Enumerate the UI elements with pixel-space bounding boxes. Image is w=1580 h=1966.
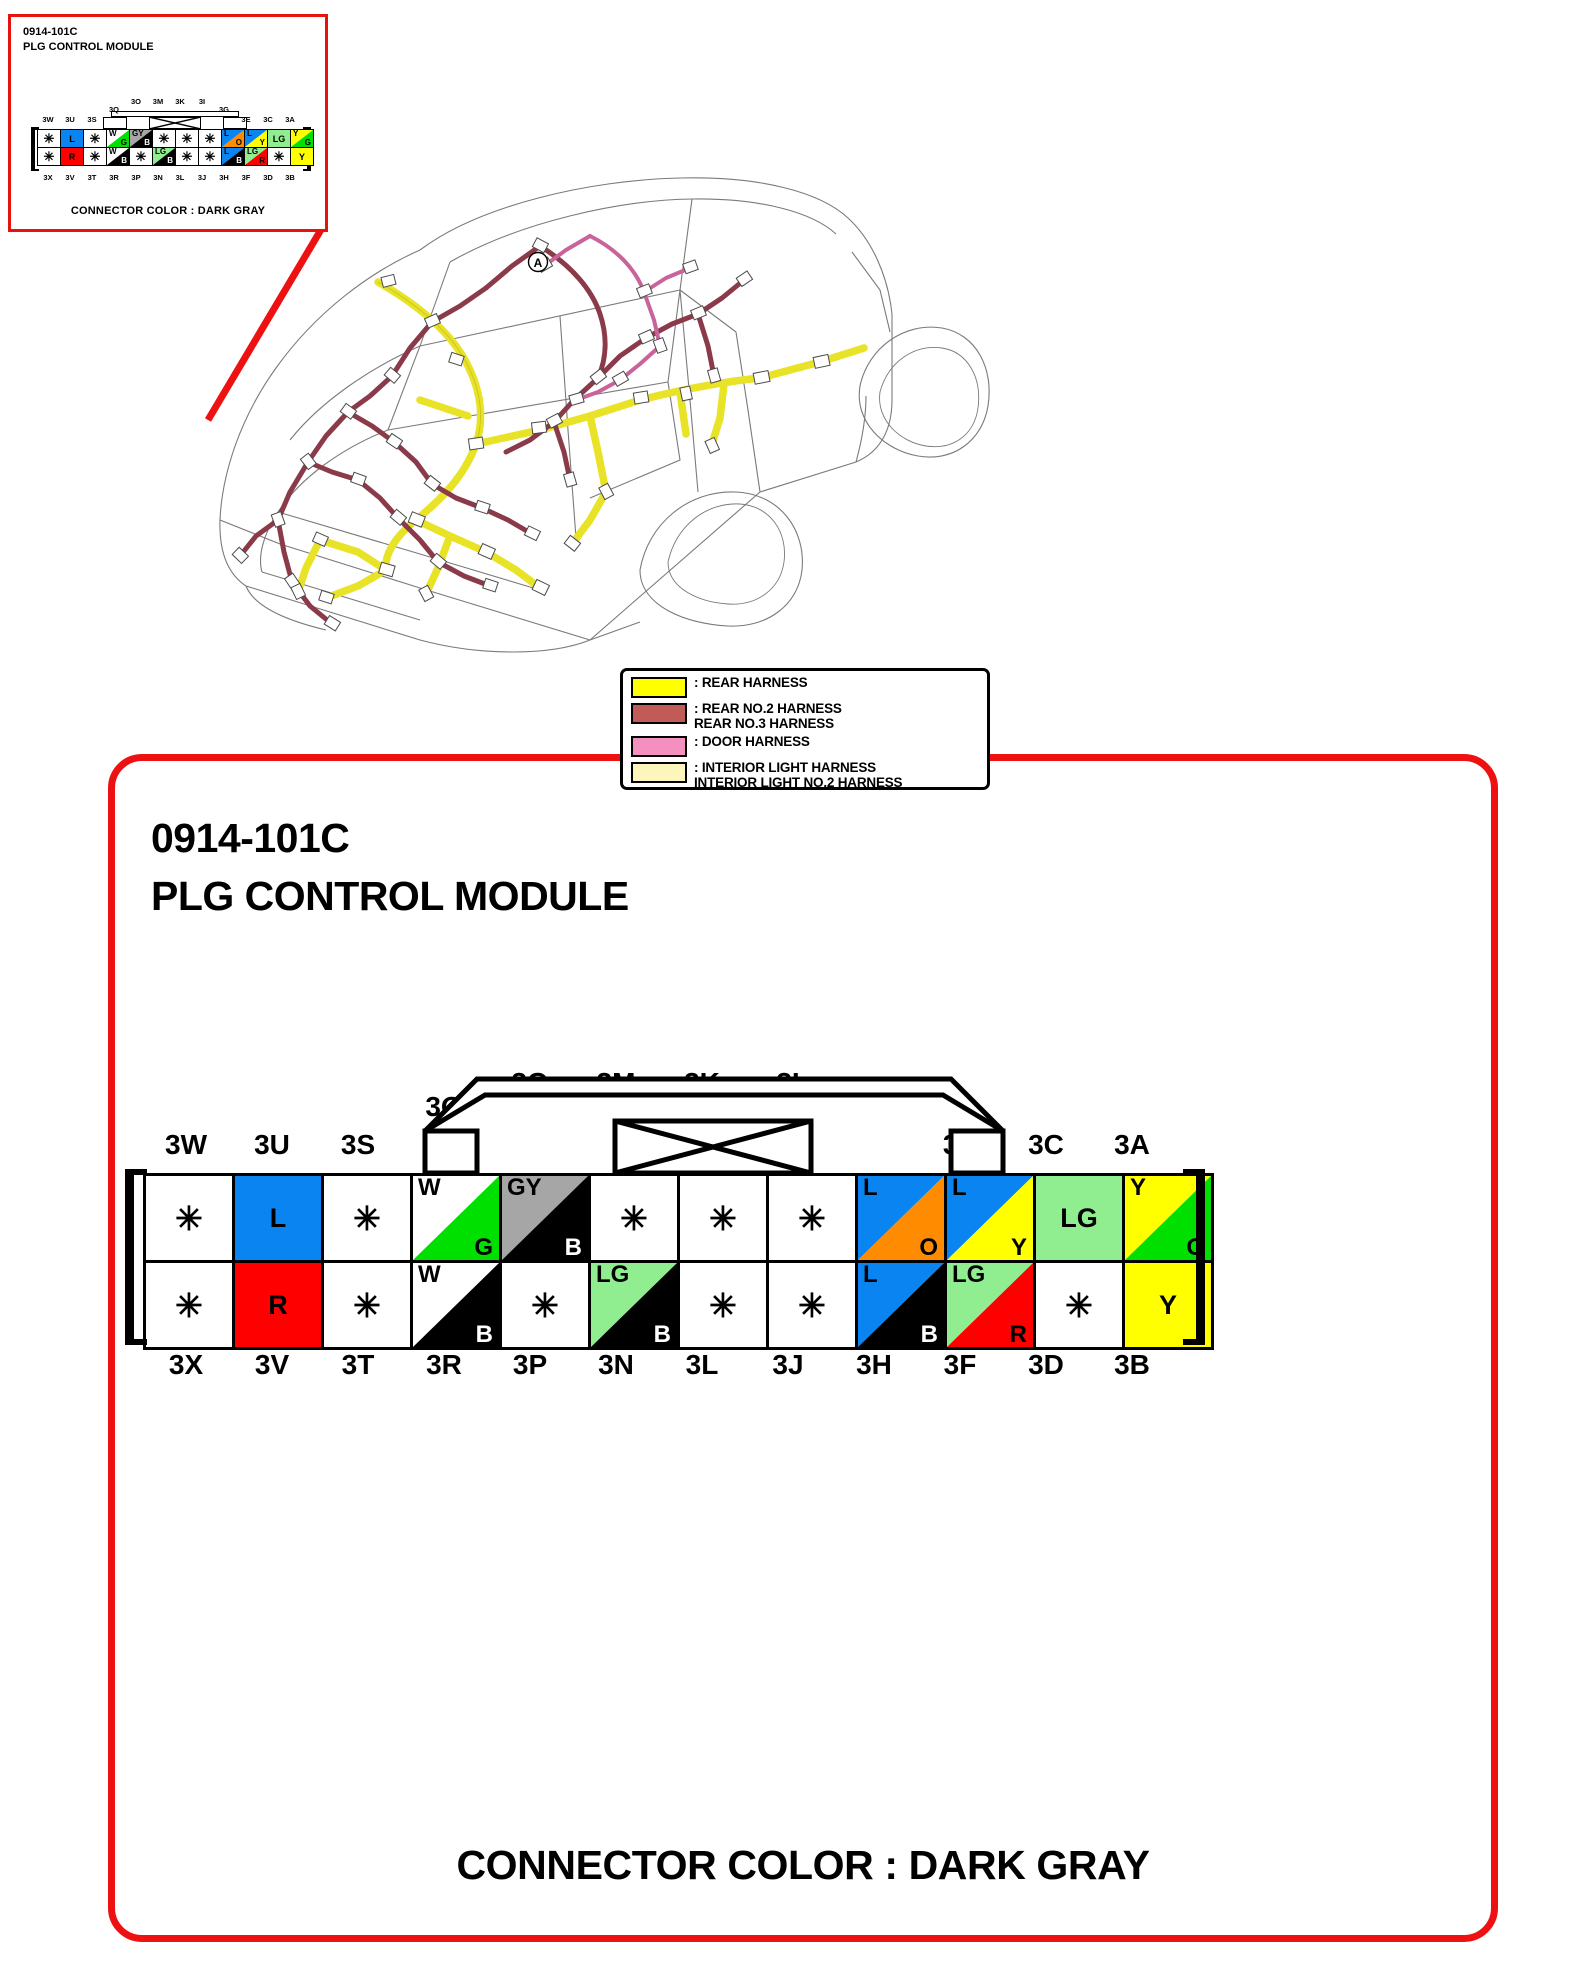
pin-wire-a-3E: L: [247, 130, 252, 138]
panel-code: 0914-101C: [151, 815, 349, 862]
inset-pin-grid: ✳L✳WGGYB✳✳✳LOLYLGYG ✳R✳WB✳LGB✳✳LBLGR✳Y: [37, 129, 314, 166]
pin-label-3J: 3J: [745, 1349, 831, 1381]
pin-label-3D: 3D: [1003, 1349, 1089, 1381]
pin-wire-a-3F: LG: [247, 148, 258, 156]
legend-swatch-door-harness: [631, 736, 687, 757]
pin-cell-3V[interactable]: R: [61, 148, 84, 166]
pin-cell-3Q[interactable]: WG: [107, 130, 130, 148]
pin-wire-color-3U: L: [235, 1176, 321, 1260]
pin-empty-mark-icon: ✳: [199, 148, 221, 165]
pin-cell-3W[interactable]: ✳: [145, 1175, 234, 1262]
pin-cell-3I[interactable]: ✳: [199, 130, 222, 148]
pin-cell-3M[interactable]: ✳: [153, 130, 176, 148]
pin-wire-color-3V: R: [61, 148, 83, 165]
inset-connector-diagram: ✳L✳WGGYB✳✳✳LOLYLGYG ✳R✳WB✳LGB✳✳LBLGR✳Y 3…: [25, 95, 317, 195]
inset-pin-label-3Q: 3Q: [103, 105, 125, 114]
inset-pin-label-3D: 3D: [257, 173, 279, 182]
pin-cell-3X[interactable]: ✳: [145, 1262, 234, 1349]
pin-wire-b-3N: B: [167, 157, 173, 165]
pin-cell-3L[interactable]: ✳: [176, 148, 199, 166]
pin-wire-color-3C: LG: [1036, 1176, 1122, 1260]
pin-cell-3S[interactable]: ✳: [323, 1175, 412, 1262]
pin-split-3Q: WG: [107, 130, 129, 147]
pin-empty-mark-icon: ✳: [324, 1263, 410, 1347]
pin-cell-3D[interactable]: ✳: [1035, 1262, 1124, 1349]
pin-cell-3E[interactable]: LY: [946, 1175, 1035, 1262]
pin-wire-a-3N: LG: [596, 1263, 629, 1287]
pin-cell-3W[interactable]: ✳: [38, 130, 61, 148]
pin-wire-b-3N: B: [654, 1323, 671, 1347]
callout-inset-box: 0914-101CPLG CONTROL MODULE ✳L✳WGGYB✳✳✳L…: [8, 14, 328, 232]
inset-pin-label-3M: 3M: [147, 97, 169, 106]
pin-split-3F: LGR: [947, 1263, 1033, 1347]
pin-wire-a-3F: LG: [952, 1263, 985, 1287]
pin-wire-a-3N: LG: [155, 148, 166, 156]
pin-empty-mark-icon: ✳: [84, 148, 106, 165]
pin-cell-3F[interactable]: LGR: [245, 148, 268, 166]
pin-label-3P: 3P: [487, 1349, 573, 1381]
inset-pin-label-3O: 3O: [125, 97, 147, 106]
inset-pin-label-3X: 3X: [37, 173, 59, 182]
pin-cell-3I[interactable]: ✳: [768, 1175, 857, 1262]
pin-split-3A: YG: [291, 130, 313, 147]
pin-empty-mark-icon: ✳: [153, 130, 175, 147]
pin-wire-a-3G: L: [224, 130, 229, 138]
pin-cell-3R[interactable]: WB: [412, 1262, 501, 1349]
pin-cell-3L[interactable]: ✳: [679, 1262, 768, 1349]
pin-wire-a-3A: Y: [293, 130, 298, 138]
pin-wire-b-3R: B: [476, 1323, 493, 1347]
pin-cell-3R[interactable]: WB: [107, 148, 130, 166]
pin-wire-a-3H: L: [224, 148, 229, 156]
pin-split-3E: LY: [245, 130, 267, 147]
pin-cell-3C[interactable]: LG: [1035, 1175, 1124, 1262]
pin-split-3R: WB: [413, 1263, 499, 1347]
pin-split-3G: LO: [858, 1176, 944, 1260]
pin-empty-mark-icon: ✳: [769, 1263, 855, 1347]
harness-legend: : REAR HARNESS: REAR NO.2 HARNESS REAR N…: [620, 668, 990, 790]
pin-cell-3T[interactable]: ✳: [84, 148, 107, 166]
pin-wire-color-3V: R: [235, 1263, 321, 1347]
inset-pin-label-3I: 3I: [191, 97, 213, 106]
panel-connector-color: CONNECTOR COLOR : DARK GRAY: [115, 1842, 1491, 1889]
pin-wire-b-3E: Y: [260, 139, 265, 147]
pin-cell-3O[interactable]: GYB: [130, 130, 153, 148]
inset-pin-label-3S: 3S: [81, 115, 103, 124]
pin-cell-3J[interactable]: ✳: [768, 1262, 857, 1349]
legend-label-rear-harness: : REAR HARNESS: [694, 676, 807, 691]
inset-pin-label-3F: 3F: [235, 173, 257, 182]
pin-cell-3S[interactable]: ✳: [84, 130, 107, 148]
pin-wire-color-3B: Y: [291, 148, 313, 165]
pin-cell-3V[interactable]: R: [234, 1262, 323, 1349]
legend-item-rear-no2-no3-harness: : REAR NO.2 HARNESS REAR NO.3 HARNESS: [623, 702, 987, 731]
inset-pin-label-3B: 3B: [279, 173, 301, 182]
pin-cell-3N[interactable]: LGB: [153, 148, 176, 166]
legend-swatch-rear-harness: [631, 677, 687, 698]
connector-rail-left: [125, 1169, 134, 1345]
svg-text:A: A: [534, 256, 543, 270]
pin-empty-mark-icon: ✳: [268, 148, 290, 165]
pin-label-3N: 3N: [573, 1349, 659, 1381]
inset-pin-label-3V: 3V: [59, 173, 81, 182]
inset-pin-label-3P: 3P: [125, 173, 147, 182]
inset-pin-label-3N: 3N: [147, 173, 169, 182]
pin-split-3H: LB: [222, 148, 244, 165]
rail-right-bot-tab: [1183, 1339, 1205, 1345]
pin-split-3N: LGB: [591, 1263, 677, 1347]
inset-pin-label-3W: 3W: [37, 115, 59, 124]
pin-wire-b-3G: O: [919, 1236, 938, 1260]
callout-marker-a: A: [529, 253, 548, 272]
pin-empty-mark-icon: ✳: [502, 1263, 588, 1347]
pin-wire-a-3O: GY: [132, 130, 144, 138]
pin-split-3R: WB: [107, 148, 129, 165]
legend-item-interior-light-harness: : INTERIOR LIGHT HARNESS INTERIOR LIGHT …: [623, 761, 987, 790]
pin-label-3F: 3F: [917, 1349, 1003, 1381]
pin-cell-3P[interactable]: ✳: [501, 1262, 590, 1349]
pin-cell-3X[interactable]: ✳: [38, 148, 61, 166]
pin-wire-b-3F: R: [259, 157, 265, 165]
pin-wire-b-3H: B: [236, 157, 242, 165]
pin-label-3L: 3L: [659, 1349, 745, 1381]
pin-wire-a-3A: Y: [1130, 1176, 1146, 1200]
pin-split-3G: LO: [222, 130, 244, 147]
inset-pin-label-3K: 3K: [169, 97, 191, 106]
pin-label-3X: 3X: [143, 1349, 229, 1381]
legend-label-interior-light-harness: : INTERIOR LIGHT HARNESS INTERIOR LIGHT …: [694, 761, 902, 790]
pin-cell-3M[interactable]: ✳: [590, 1175, 679, 1262]
pin-wire-b-3R: B: [121, 157, 127, 165]
pin-wire-a-3Q: W: [418, 1176, 441, 1200]
pin-wire-b-3O: B: [565, 1236, 582, 1260]
panel-title: PLG CONTROL MODULE: [151, 873, 629, 920]
pin-split-3E: LY: [947, 1176, 1033, 1260]
pin-wire-a-3E: L: [952, 1176, 967, 1200]
pin-cell-3H[interactable]: LB: [857, 1262, 946, 1349]
pin-empty-mark-icon: ✳: [146, 1176, 232, 1260]
pin-cell-3E[interactable]: LY: [245, 130, 268, 148]
pin-empty-mark-icon: ✳: [591, 1176, 677, 1260]
pin-cell-3Q[interactable]: WG: [412, 1175, 501, 1262]
pin-label-3B: 3B: [1089, 1349, 1175, 1381]
pin-cell-3B[interactable]: Y: [291, 148, 314, 166]
connector-rail-right: [1196, 1169, 1205, 1345]
pin-label-3T: 3T: [315, 1349, 401, 1381]
pin-wire-b-3H: B: [921, 1323, 938, 1347]
pin-wire-b-3E: Y: [1011, 1236, 1027, 1260]
legend-label-door-harness: : DOOR HARNESS: [694, 735, 810, 750]
pin-cell-3F[interactable]: LGR: [946, 1262, 1035, 1349]
pin-empty-mark-icon: ✳: [199, 130, 221, 147]
connector-pin-grid: ✳L✳WGGYB✳✳✳LOLYLGYG ✳R✳WB✳LGB✳✳LBLGR✳Y: [143, 1173, 1214, 1350]
pin-empty-mark-icon: ✳: [84, 130, 106, 147]
connector-shroud-outline: [125, 1043, 1225, 1173]
pin-wire-b-3A: G: [305, 139, 311, 147]
inset-pin-label-3L: 3L: [169, 173, 191, 182]
pin-wire-a-3Q: W: [109, 130, 117, 138]
inset-pin-label-3E: 3E: [235, 115, 257, 124]
pin-empty-mark-icon: ✳: [680, 1176, 766, 1260]
legend-item-door-harness: : DOOR HARNESS: [623, 735, 987, 757]
pin-wire-a-3G: L: [863, 1176, 878, 1200]
pin-empty-mark-icon: ✳: [38, 130, 60, 147]
pin-wire-a-3H: L: [863, 1263, 878, 1287]
inset-x-mark-icon: [149, 117, 201, 129]
rail-left-bot-tab: [125, 1339, 147, 1345]
pin-empty-mark-icon: ✳: [324, 1176, 410, 1260]
pin-label-3R: 3R: [401, 1349, 487, 1381]
pin-empty-mark-icon: ✳: [130, 148, 152, 165]
pin-split-3O: GYB: [130, 130, 152, 147]
pin-split-3N: LGB: [153, 148, 175, 165]
pin-cell-3T[interactable]: ✳: [323, 1262, 412, 1349]
inset-pin-label-3C: 3C: [257, 115, 279, 124]
pin-empty-mark-icon: ✳: [176, 148, 198, 165]
pin-split-3O: GYB: [502, 1176, 588, 1260]
pin-cell-3J[interactable]: ✳: [199, 148, 222, 166]
pin-empty-mark-icon: ✳: [1036, 1263, 1122, 1347]
pin-wire-a-3R: W: [418, 1263, 441, 1287]
inset-pin-label-3G: 3G: [213, 105, 235, 114]
pin-cell-3U[interactable]: L: [61, 130, 84, 148]
pin-wire-b-3G: O: [236, 139, 242, 147]
pin-empty-mark-icon: ✳: [38, 148, 60, 165]
pin-wire-color-3C: LG: [268, 130, 290, 147]
legend-item-rear-harness: : REAR HARNESS: [623, 676, 987, 698]
inset-pin-label-3H: 3H: [213, 173, 235, 182]
pin-wire-a-3R: W: [109, 148, 117, 156]
pin-wire-b-3F: R: [1010, 1323, 1027, 1347]
pin-wire-a-3O: GY: [507, 1176, 542, 1200]
pin-cell-3O[interactable]: GYB: [501, 1175, 590, 1262]
pin-row-bottom: ✳R✳WB✳LGB✳✳LBLGR✳Y: [145, 1262, 1213, 1349]
connector-pinout-diagram: ✳L✳WGGYB✳✳✳LOLYLGYG ✳R✳WB✳LGB✳✳LBLGR✳Y 3…: [125, 1043, 1225, 1363]
pin-row-top: ✳L✳WGGYB✳✳✳LOLYLGYG: [145, 1175, 1213, 1262]
connector-detail-panel: 0914-101C PLG CONTROL MODULE ✳L✳WGGYB✳✳✳…: [108, 754, 1498, 1942]
pin-cell-3C[interactable]: LG: [268, 130, 291, 148]
pin-cell-3D[interactable]: ✳: [268, 148, 291, 166]
inset-pin-label-3T: 3T: [81, 173, 103, 182]
pin-empty-mark-icon: ✳: [176, 130, 198, 147]
pin-split-3F: LGR: [245, 148, 267, 165]
rail-left-top-tab: [125, 1169, 147, 1175]
pin-wire-b-3Q: G: [121, 139, 127, 147]
pin-label-3V: 3V: [229, 1349, 315, 1381]
pin-wire-b-3Q: G: [474, 1236, 493, 1260]
inset-connector-color: CONNECTOR COLOR : DARK GRAY: [11, 205, 325, 217]
inset-code: 0914-101C: [23, 26, 77, 38]
legend-label-rear-no2-no3-harness: : REAR NO.2 HARNESS REAR NO.3 HARNESS: [694, 702, 842, 731]
legend-swatch-rear-no2-no3-harness: [631, 703, 687, 724]
pin-cell-3A[interactable]: YG: [291, 130, 314, 148]
pin-split-3H: LB: [858, 1263, 944, 1347]
inset-name: PLG CONTROL MODULE: [23, 41, 154, 53]
pin-empty-mark-icon: ✳: [680, 1263, 766, 1347]
pin-cell-3K[interactable]: ✳: [679, 1175, 768, 1262]
inset-pin-label-3R: 3R: [103, 173, 125, 182]
pin-cell-3G[interactable]: LO: [222, 130, 245, 148]
pin-cell-3P[interactable]: ✳: [130, 148, 153, 166]
pin-wire-color-3U: L: [61, 130, 83, 147]
pin-cell-3U[interactable]: L: [234, 1175, 323, 1262]
pin-empty-mark-icon: ✳: [146, 1263, 232, 1347]
inset-pin-label-3J: 3J: [191, 173, 213, 182]
pin-wire-b-3O: B: [144, 139, 150, 147]
inset-title: 0914-101CPLG CONTROL MODULE: [23, 25, 154, 55]
inset-pin-label-3U: 3U: [59, 115, 81, 124]
pin-cell-3K[interactable]: ✳: [176, 130, 199, 148]
pin-split-3Q: WG: [413, 1176, 499, 1260]
pin-cell-3G[interactable]: LO: [857, 1175, 946, 1262]
pin-cell-3N[interactable]: LGB: [590, 1262, 679, 1349]
rail-right-top-tab: [1183, 1169, 1205, 1175]
legend-swatch-interior-light-harness: [631, 762, 687, 783]
pin-label-3H: 3H: [831, 1349, 917, 1381]
pin-empty-mark-icon: ✳: [769, 1176, 855, 1260]
inset-pin-label-3A: 3A: [279, 115, 301, 124]
pin-cell-3H[interactable]: LB: [222, 148, 245, 166]
